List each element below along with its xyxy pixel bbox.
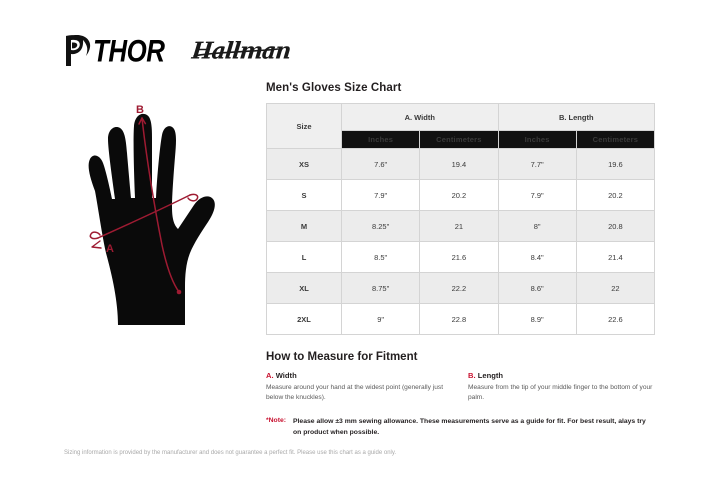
thor-wordmark: THOR (93, 35, 165, 67)
cell-length-in: 8" (498, 211, 576, 242)
hand-silhouette-svg: A B (62, 95, 267, 325)
thor-logo: THOR (62, 34, 168, 68)
note-text: Please allow ±3 mm sewing allowance. The… (293, 417, 653, 439)
cell-size: 2XL (267, 304, 342, 335)
cell-length-in: 8.6" (498, 273, 576, 304)
how-to-measure-columns: A. Width Measure around your hand at the… (266, 371, 656, 403)
col-header-length-centimeters: Centimeters (576, 131, 654, 149)
cell-width-cm: 19.4 (420, 149, 498, 180)
hand-silhouette-shape (89, 114, 215, 325)
cell-length-cm: 22 (576, 273, 654, 304)
cell-width-in: 8.75" (342, 273, 420, 304)
col-header-size: Size (267, 104, 342, 149)
table-row: XS 7.6" 19.4 7.7" 19.6 (267, 149, 655, 180)
cell-length-in: 8.9" (498, 304, 576, 335)
page-title: Men's Gloves Size Chart (266, 82, 656, 94)
hand-measurement-diagram: A B (62, 95, 267, 325)
measure-width-heading: A. Width (266, 371, 454, 380)
table-row: M 8.25" 21 8" 20.8 (267, 211, 655, 242)
hallman-swash-icon (192, 40, 280, 64)
col-header-width-inches: Inches (342, 131, 420, 149)
cell-width-in: 7.9" (342, 180, 420, 211)
hallman-logo: Hallman (192, 36, 290, 66)
cell-length-in: 7.7" (498, 149, 576, 180)
cell-length-cm: 20.8 (576, 211, 654, 242)
col-header-width-centimeters: Centimeters (420, 131, 498, 149)
table-head: Size A. Width B. Length Inches Centimete… (267, 104, 655, 149)
cell-width-cm: 21.6 (420, 242, 498, 273)
cell-size: S (267, 180, 342, 211)
table-row: XL 8.75" 22.2 8.6" 22 (267, 273, 655, 304)
cell-width-cm: 20.2 (420, 180, 498, 211)
how-to-measure-title: How to Measure for Fitment (266, 351, 656, 363)
measure-column-width: A. Width Measure around your hand at the… (266, 371, 454, 403)
measure-length-heading: B. Length (468, 371, 656, 380)
cell-width-in: 8.25" (342, 211, 420, 242)
cell-width-cm: 22.8 (420, 304, 498, 335)
table-row: S 7.9" 20.2 7.9" 20.2 (267, 180, 655, 211)
table-row: L 8.5" 21.6 8.4" 21.4 (267, 242, 655, 273)
cell-length-cm: 19.6 (576, 149, 654, 180)
cell-width-in: 9" (342, 304, 420, 335)
width-arrow-loop-left (90, 232, 100, 238)
cell-length-cm: 20.2 (576, 180, 654, 211)
note-label: *Note: (266, 417, 286, 424)
measure-width-letter: A. (266, 371, 274, 380)
size-chart-panel: Men's Gloves Size Chart Size A. Width B.… (266, 82, 656, 439)
cell-width-cm: 21 (420, 211, 498, 242)
width-arrow-head (92, 241, 101, 248)
measure-width-body: Measure around your hand at the widest p… (266, 383, 454, 403)
cell-size: L (267, 242, 342, 273)
table-body: XS 7.6" 19.4 7.7" 19.6 S 7.9" 20.2 7.9" … (267, 149, 655, 335)
cell-length-cm: 22.6 (576, 304, 654, 335)
how-to-measure-section: How to Measure for Fitment A. Width Meas… (266, 351, 656, 439)
width-label-a: A (106, 243, 114, 255)
length-end-dot (177, 290, 182, 295)
cell-size: M (267, 211, 342, 242)
col-header-width-group: A. Width (342, 104, 499, 131)
measure-length-body: Measure from the tip of your middle fing… (468, 383, 656, 403)
cell-width-in: 8.5" (342, 242, 420, 273)
measure-length-name: Length (476, 371, 503, 380)
col-header-length-group: B. Length (498, 104, 655, 131)
width-arrow-loop-right (188, 194, 198, 200)
footer-disclaimer: Sizing information is provided by the ma… (64, 448, 404, 459)
note-row: *Note: Please allow ±3 mm sewing allowan… (266, 417, 656, 439)
cell-size: XL (267, 273, 342, 304)
cell-width-cm: 22.2 (420, 273, 498, 304)
table-row: 2XL 9" 22.8 8.9" 22.6 (267, 304, 655, 335)
cell-length-cm: 21.4 (576, 242, 654, 273)
table-head-row-groups: Size A. Width B. Length (267, 104, 655, 131)
cell-size: XS (267, 149, 342, 180)
col-header-length-inches: Inches (498, 131, 576, 149)
cell-width-in: 7.6" (342, 149, 420, 180)
thor-helmet-icon (62, 34, 92, 68)
size-chart-table: Size A. Width B. Length Inches Centimete… (266, 103, 655, 335)
measure-column-length: B. Length Measure from the tip of your m… (468, 371, 656, 403)
length-label-b: B (136, 104, 144, 116)
measure-length-letter: B. (468, 371, 476, 380)
cell-length-in: 7.9" (498, 180, 576, 211)
measure-width-name: Width (274, 371, 297, 380)
brand-logo-bar: THOR Hallman (62, 30, 277, 72)
cell-length-in: 8.4" (498, 242, 576, 273)
